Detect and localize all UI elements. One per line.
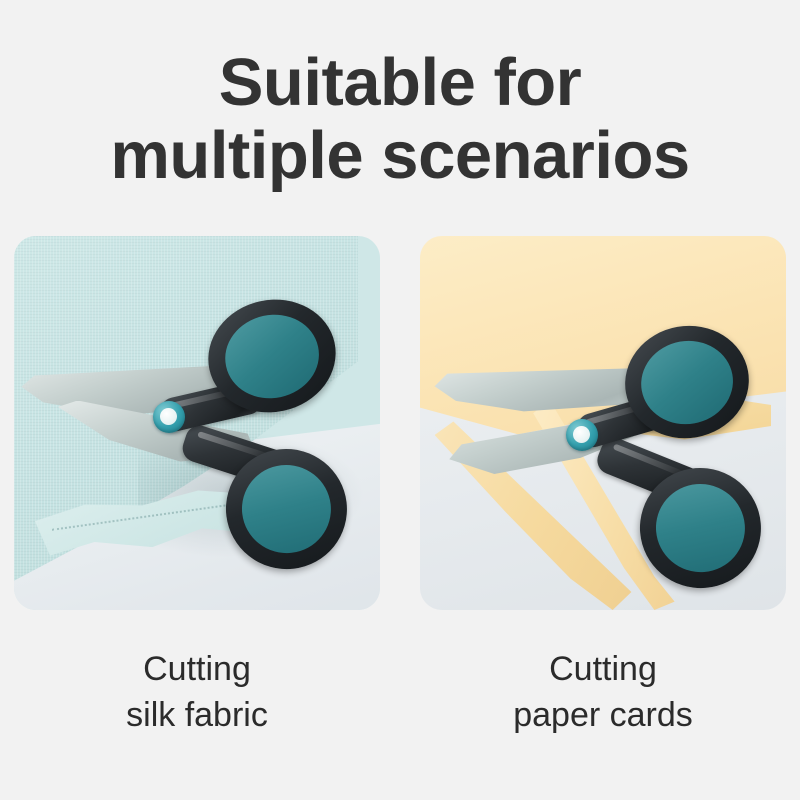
scenario-photo-silk-fabric: [14, 236, 380, 610]
caption-silk-fabric: Cutting silk fabric: [14, 646, 380, 738]
caption-line-1: Cutting: [420, 646, 786, 692]
caption-line-2: silk fabric: [14, 692, 380, 738]
scenario-caption-row: Cutting silk fabric Cutting paper cards: [14, 646, 786, 738]
caption-paper-cards: Cutting paper cards: [420, 646, 786, 738]
scissors-pivot-screw: [153, 401, 185, 433]
handle-grip-lower: [231, 454, 341, 564]
caption-line-2: paper cards: [420, 692, 786, 738]
product-feature-banner: Suitable for multiple scenarios: [0, 0, 800, 800]
scissors-silk: [14, 236, 380, 610]
page-title-line-2: multiple scenarios: [0, 119, 800, 192]
page-title: Suitable for multiple scenarios: [0, 46, 800, 192]
scenario-image-row: [14, 236, 786, 610]
handle-grip-lower: [644, 472, 756, 584]
caption-line-1: Cutting: [14, 646, 380, 692]
scissors-paper: [420, 236, 786, 610]
handle-grip-upper: [635, 333, 740, 431]
page-title-line-1: Suitable for: [0, 46, 800, 119]
handle-grip-upper: [217, 305, 327, 406]
scenario-photo-paper-cards: [420, 236, 786, 610]
